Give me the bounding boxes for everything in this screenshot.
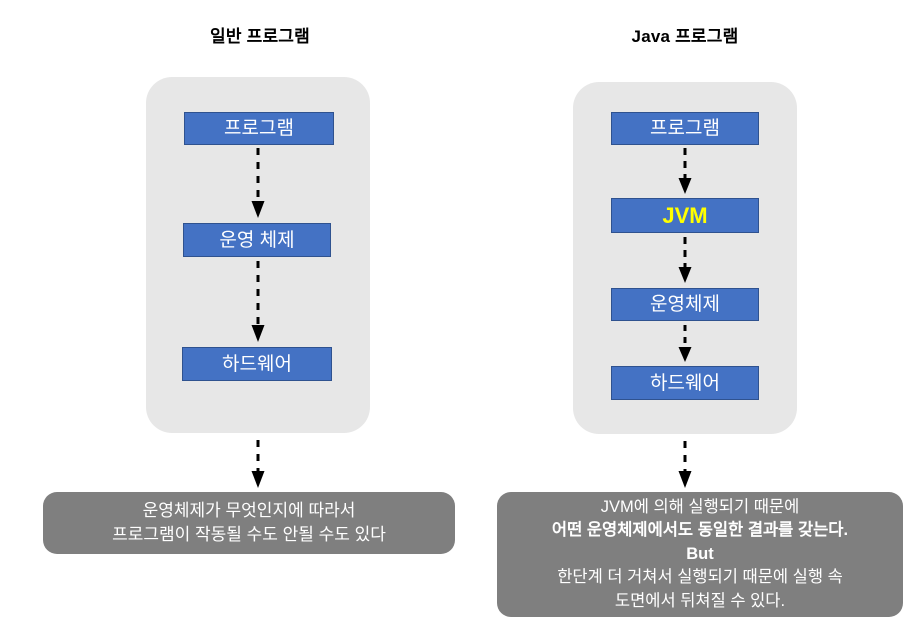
arrowhead-icon	[679, 267, 692, 283]
arrowhead-icon	[679, 471, 692, 488]
left-caption-line-1: 운영체제가 무엇인지에 따라서	[143, 499, 356, 523]
left-box-operating-system: 운영 체제	[183, 223, 331, 257]
right-caption-line-2: 어떤 운영체제에서도 동일한 결과를 갖는다.	[552, 519, 848, 542]
right-arrow-jvm-to-os	[678, 237, 692, 283]
arrowhead-icon	[252, 325, 265, 342]
right-caption-line-3: But	[686, 543, 714, 566]
left-arrow-panel-to-caption	[251, 440, 265, 488]
diagram-canvas: 일반 프로그램 Java 프로그램 프로그램 운영 체제 하드웨어 운영체제가 …	[0, 0, 917, 633]
right-arrow-program-to-jvm	[678, 148, 692, 194]
right-box-jvm: JVM	[611, 198, 759, 233]
left-column-title: 일반 프로그램	[145, 22, 375, 47]
left-box-hardware: 하드웨어	[182, 347, 332, 381]
left-caption-line-2: 프로그램이 작동될 수도 안될 수도 있다	[112, 523, 386, 547]
left-box-program: 프로그램	[184, 112, 334, 145]
arrowhead-icon	[679, 178, 692, 194]
right-arrow-os-to-hardware	[678, 325, 692, 362]
right-caption-line-1: JVM에 의해 실행되기 때문에	[601, 496, 800, 519]
left-caption-box: 운영체제가 무엇인지에 따라서 프로그램이 작동될 수도 안될 수도 있다	[43, 492, 455, 554]
left-arrow-program-to-os	[251, 148, 265, 218]
right-box-hardware: 하드웨어	[611, 366, 759, 400]
right-caption-line-5: 도면에서 뒤쳐질 수 있다.	[615, 590, 785, 613]
right-arrow-panel-to-caption	[678, 441, 692, 488]
arrowhead-icon	[252, 201, 265, 218]
arrowhead-icon	[252, 471, 265, 488]
arrowhead-icon	[679, 347, 692, 362]
right-caption-box: JVM에 의해 실행되기 때문에 어떤 운영체제에서도 동일한 결과를 갖는다.…	[497, 492, 903, 617]
right-caption-line-4: 한단계 더 거쳐서 실행되기 때문에 실행 속	[557, 566, 843, 589]
right-box-operating-system: 운영체제	[611, 288, 759, 321]
right-box-program: 프로그램	[611, 112, 759, 145]
right-column-title: Java 프로그램	[565, 22, 805, 47]
left-arrow-os-to-hardware	[251, 261, 265, 342]
